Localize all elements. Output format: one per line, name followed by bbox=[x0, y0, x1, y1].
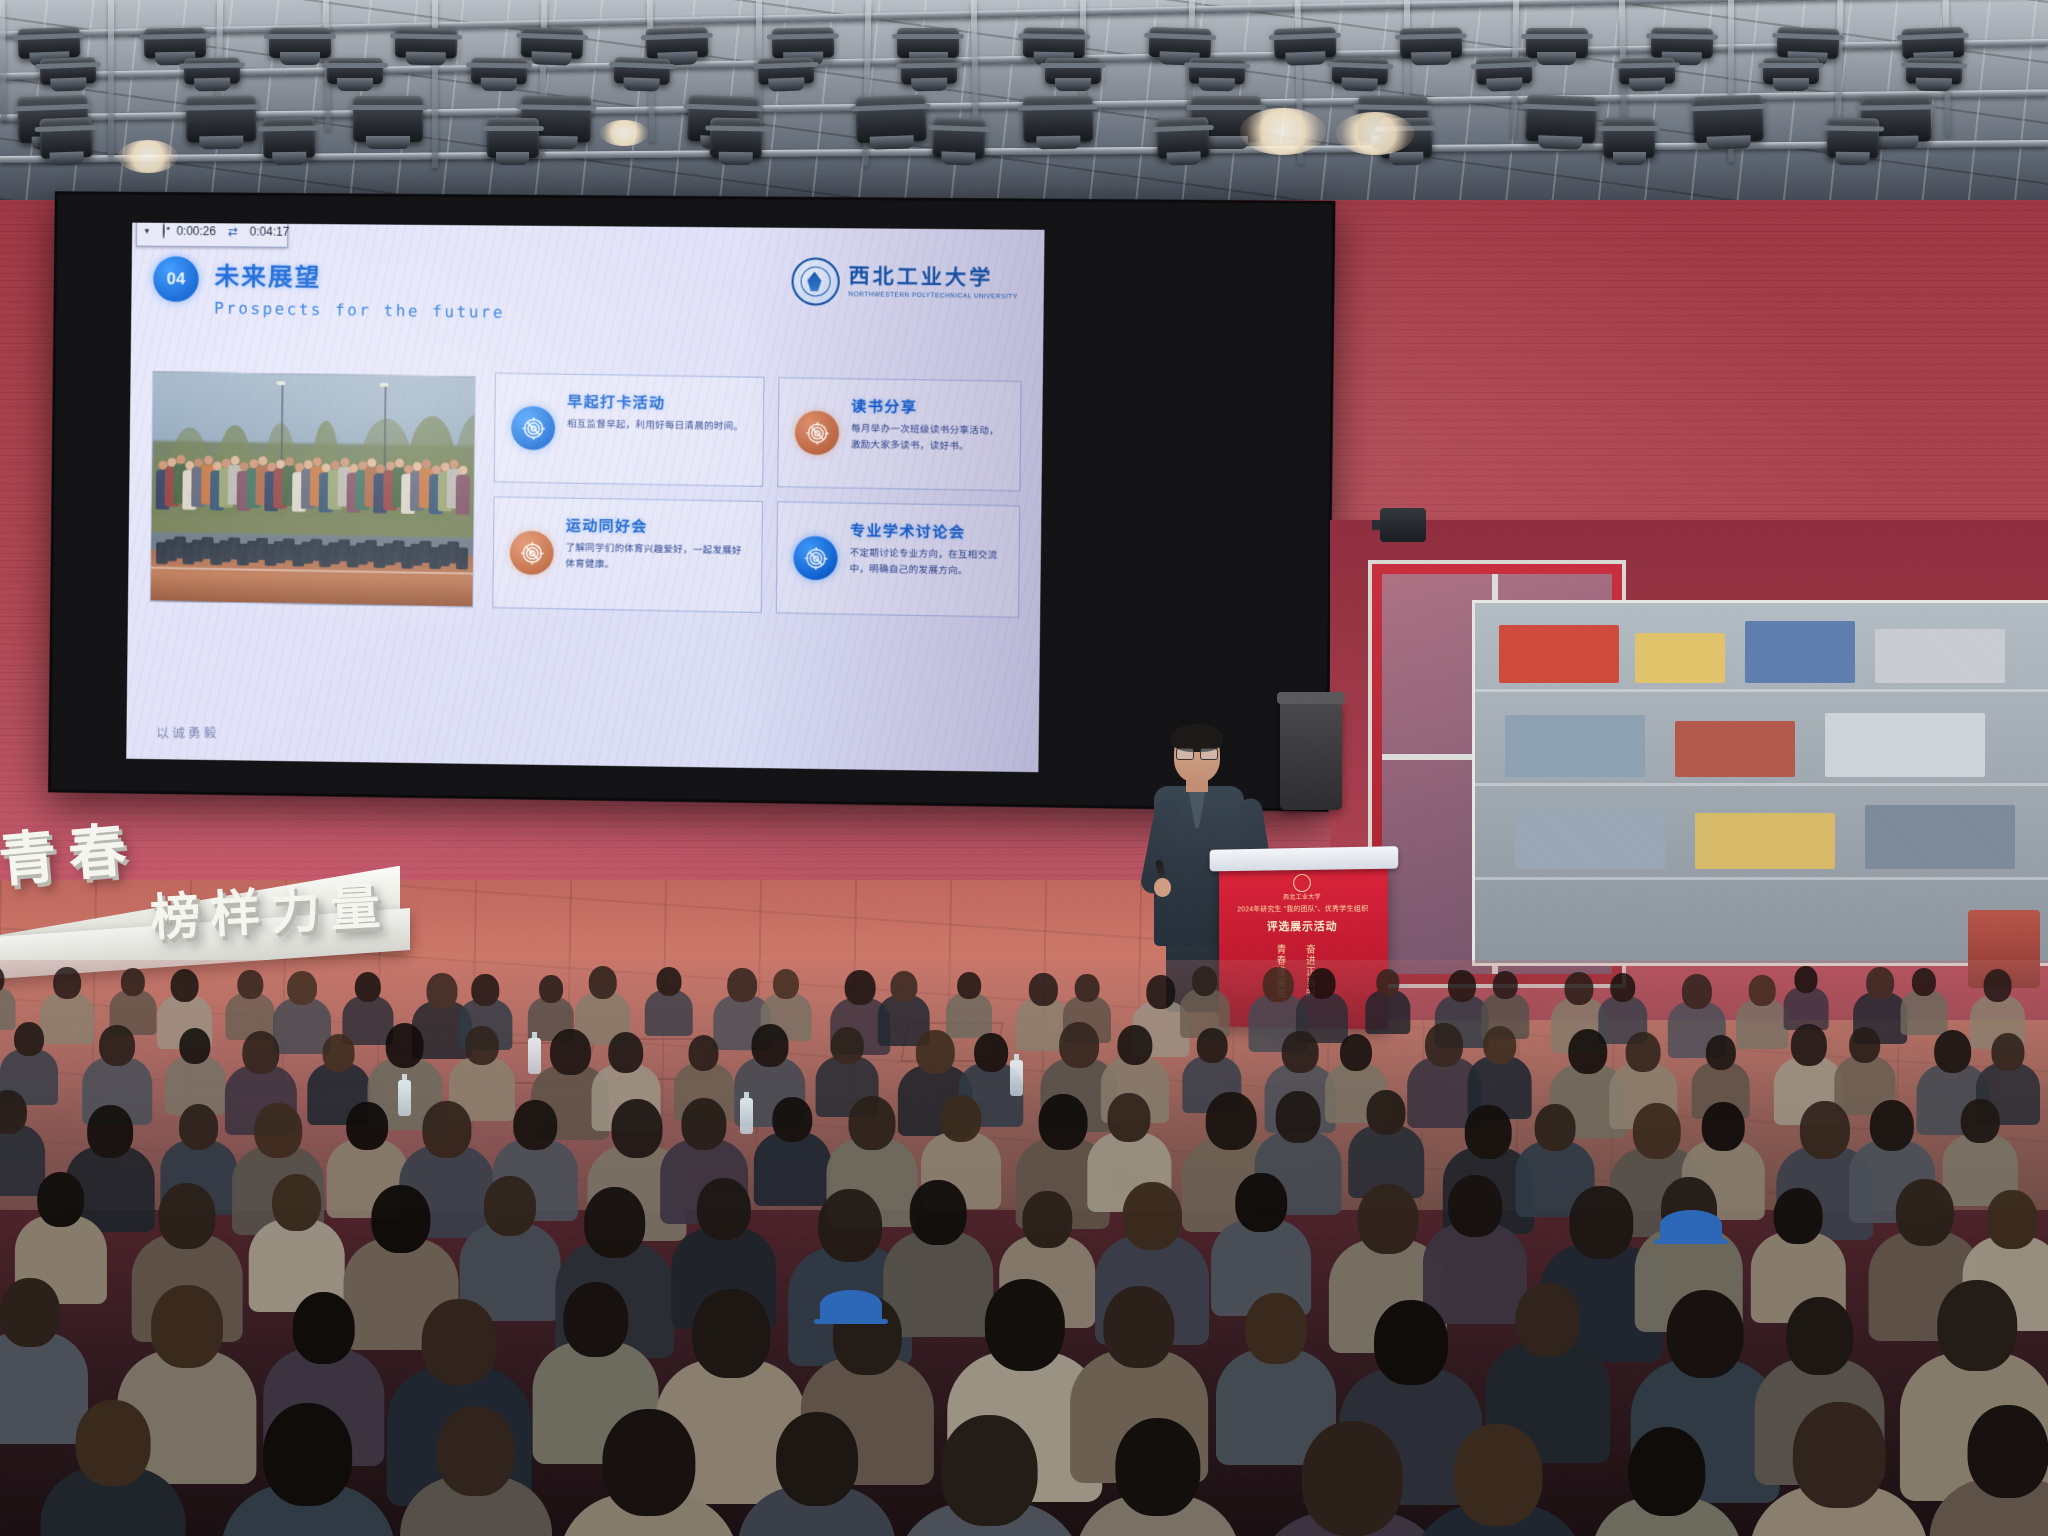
audience-person bbox=[218, 1403, 398, 1536]
audience-person-head bbox=[1340, 1034, 1372, 1071]
university-name-en: NORTHWESTERN POLYTECHNICAL UNIVERSITY bbox=[848, 291, 1017, 301]
audience-person-head bbox=[1029, 973, 1057, 1006]
audience-person-head bbox=[385, 1023, 424, 1068]
light-lens bbox=[366, 136, 411, 149]
audience-person-head bbox=[985, 1279, 1065, 1371]
bin-lid bbox=[1277, 692, 1345, 704]
audience-person-head bbox=[76, 1400, 151, 1486]
audience-person-head bbox=[1896, 1179, 1954, 1246]
light-lens bbox=[1167, 151, 1201, 165]
audience-person-head bbox=[263, 1403, 353, 1506]
light-lens bbox=[1390, 152, 1423, 166]
light-lens bbox=[273, 152, 306, 166]
audience-person bbox=[1072, 1418, 1243, 1536]
light-lens bbox=[198, 136, 243, 150]
light-lens bbox=[337, 78, 373, 91]
light-glare bbox=[118, 140, 178, 173]
light-lens bbox=[496, 152, 529, 165]
truss-vertical bbox=[432, 0, 438, 168]
photo-people-row bbox=[158, 459, 468, 570]
audience-person-head bbox=[1610, 973, 1636, 1002]
audience-person-head bbox=[1795, 966, 1818, 993]
stage-light bbox=[1776, 27, 1839, 59]
audience-person-head bbox=[422, 1299, 497, 1385]
audience-person-head bbox=[465, 1026, 499, 1065]
stage-light bbox=[710, 118, 763, 159]
audience-person-head bbox=[1793, 1402, 1885, 1508]
timer-total: 0:04:17 bbox=[244, 224, 296, 238]
light-yoke bbox=[322, 63, 388, 68]
photo-person bbox=[458, 464, 467, 570]
light-lens bbox=[50, 77, 86, 91]
stage-light bbox=[520, 27, 583, 59]
audience-person-head bbox=[1987, 1190, 2038, 1249]
light-yoke bbox=[1521, 34, 1593, 39]
stage-light bbox=[470, 58, 526, 85]
audience-person-head bbox=[1483, 1026, 1516, 1064]
audience-person-head bbox=[819, 1189, 883, 1262]
audience-person-head bbox=[484, 1176, 536, 1236]
audience-person bbox=[1900, 968, 1948, 1032]
audience-person-head bbox=[170, 969, 199, 1002]
audience-person-head bbox=[53, 967, 81, 999]
shelf-row bbox=[1475, 877, 2048, 880]
stage-light bbox=[1526, 28, 1588, 58]
light-lens bbox=[406, 52, 446, 66]
trash-bin bbox=[1280, 700, 1342, 810]
stage-light bbox=[933, 117, 986, 159]
light-yoke bbox=[705, 125, 767, 131]
audience-person-head bbox=[602, 1409, 695, 1516]
audience-person-head bbox=[1870, 1100, 1914, 1151]
shelf-item bbox=[1515, 809, 1665, 869]
card-desc: 不定期讨论专业方向，在互相交流中，明确自己的发展方向。 bbox=[849, 546, 1006, 580]
audience-person-head bbox=[422, 1101, 471, 1158]
podium-org-line: 西北工业大学 bbox=[1219, 891, 1388, 902]
water-bottle bbox=[398, 1080, 411, 1116]
banner-line-1: 青春 bbox=[0, 802, 141, 898]
light-lens bbox=[280, 52, 320, 65]
baseball-cap bbox=[820, 1290, 882, 1320]
slide-title-cn: 未来展望 bbox=[214, 257, 321, 294]
stage-light bbox=[185, 95, 256, 142]
audience-person-head bbox=[371, 1185, 430, 1253]
stage-light bbox=[327, 58, 383, 84]
audience-person bbox=[0, 1022, 59, 1101]
light-lens bbox=[1342, 77, 1378, 91]
audience-person-head bbox=[688, 1035, 719, 1071]
shelf-item bbox=[1635, 633, 1725, 683]
audience-person-head bbox=[1465, 1105, 1512, 1159]
audience-person-head bbox=[1912, 968, 1936, 996]
audience-person-head bbox=[1568, 1029, 1607, 1074]
audience-person-head bbox=[589, 966, 618, 999]
audience-person bbox=[1927, 1405, 2048, 1536]
audience-person-head bbox=[255, 1103, 302, 1158]
audience-person-head bbox=[1023, 1191, 1072, 1248]
stage-light bbox=[1332, 57, 1389, 85]
light-lens bbox=[1629, 78, 1665, 92]
audience-person-head bbox=[776, 1412, 858, 1506]
light-yoke bbox=[1186, 105, 1266, 110]
presentation-slide: 04 未来展望 Prospects for the future 西北工业大学 … bbox=[126, 223, 1044, 773]
audience-person-body bbox=[1900, 990, 1947, 1035]
water-bottle bbox=[528, 1038, 541, 1074]
shelf-item bbox=[1499, 625, 1619, 683]
card-1[interactable]: 早起打卡活动 相互监督早起，利用好每日清晨的时间。 bbox=[494, 373, 765, 487]
light-lens bbox=[1537, 52, 1577, 65]
audience-person bbox=[164, 1028, 227, 1110]
audience-person-head bbox=[681, 1098, 726, 1150]
stage-light bbox=[40, 57, 97, 85]
audience-person-head bbox=[1967, 1405, 2048, 1498]
audience-person-head bbox=[916, 1030, 954, 1074]
audience-person-head bbox=[1192, 966, 1218, 996]
ppt-recording-timer[interactable]: 录制 ▼ 0:00:26 ⇄ 0:04:17 bbox=[136, 223, 289, 248]
stage-light bbox=[395, 27, 458, 58]
shelf-item bbox=[1675, 721, 1795, 777]
cap-brim bbox=[814, 1319, 888, 1324]
audience-person-body bbox=[1365, 990, 1410, 1034]
stage-light bbox=[646, 27, 709, 59]
audience-person-head bbox=[1800, 1101, 1850, 1159]
water-bottle bbox=[740, 1098, 753, 1134]
podium-top-surface bbox=[1210, 846, 1399, 871]
chevron-down-icon[interactable]: ▼ bbox=[137, 226, 157, 235]
light-lens bbox=[480, 78, 516, 92]
podium-event-line-2: 评选展示活动 bbox=[1219, 918, 1388, 934]
audience-person-head bbox=[1282, 1031, 1319, 1073]
light-lens bbox=[942, 151, 976, 165]
audience-person-head bbox=[1774, 1188, 1823, 1244]
audience-person-head bbox=[692, 1289, 769, 1378]
light-yoke bbox=[482, 126, 544, 131]
audience-person-head bbox=[1570, 1186, 1633, 1259]
led-screen: 04 未来展望 Prospects for the future 西北工业大学 … bbox=[48, 191, 1335, 812]
slide-title-en: Prospects for the future bbox=[214, 299, 505, 322]
shelf-row bbox=[1475, 689, 2048, 692]
audience-person-head bbox=[1961, 1099, 2000, 1143]
card-3[interactable]: 运动同好会 了解同学们的体育兴趣爱好，一起发展好体育健康。 bbox=[492, 496, 763, 613]
stage-light bbox=[1902, 27, 1965, 59]
target-icon bbox=[795, 410, 840, 455]
audience-person bbox=[735, 1412, 899, 1536]
audience-person-head bbox=[1376, 969, 1399, 996]
display-shelving bbox=[1472, 600, 2048, 966]
light-lens bbox=[1198, 78, 1234, 92]
audience-person-head bbox=[1493, 971, 1517, 999]
light-yoke bbox=[1758, 63, 1824, 68]
audience-person-head bbox=[773, 1097, 812, 1142]
audience-person-head bbox=[584, 1187, 646, 1258]
audience-person bbox=[1210, 1173, 1313, 1308]
card-desc: 了解同学们的体育兴趣爱好，一起发展好体育健康。 bbox=[565, 540, 749, 575]
record-icon[interactable] bbox=[163, 223, 165, 239]
audience-person-head bbox=[1374, 1300, 1448, 1385]
light-lens bbox=[1486, 77, 1522, 91]
audience-person bbox=[893, 1415, 1087, 1536]
audience-person bbox=[398, 1406, 555, 1536]
stage-light bbox=[183, 58, 239, 85]
audience-person-head bbox=[37, 1172, 85, 1227]
shelf-item bbox=[1505, 715, 1645, 777]
podium-event-line-1: 2024年研究生 “我的团队”、优秀学生组织 bbox=[1219, 903, 1388, 914]
audience-person-head bbox=[845, 970, 876, 1005]
shelf-item bbox=[1865, 805, 2015, 869]
audience-person-head bbox=[87, 1105, 133, 1158]
light-lens bbox=[50, 151, 84, 165]
audience-person-head bbox=[849, 1096, 896, 1150]
audience-person-head bbox=[1275, 1091, 1320, 1143]
light-yoke bbox=[1598, 126, 1660, 131]
stage-light bbox=[1045, 58, 1101, 84]
truss-vertical bbox=[108, 0, 114, 157]
audience-person bbox=[1783, 966, 1829, 1027]
audience-person-head bbox=[1992, 1033, 2025, 1071]
stage-light bbox=[1023, 95, 1094, 142]
light-yoke bbox=[264, 34, 336, 39]
light-yoke bbox=[348, 105, 428, 110]
timer-elapsed: 0:00:26 bbox=[170, 224, 222, 238]
university-seal-icon bbox=[791, 257, 840, 306]
audience-person-head bbox=[1117, 1025, 1152, 1065]
light-lens bbox=[1836, 152, 1869, 166]
audience-person-head bbox=[1667, 1290, 1744, 1378]
light-lens bbox=[533, 136, 578, 150]
audience-person bbox=[1410, 1424, 1588, 1536]
audience-person-head bbox=[890, 971, 917, 1002]
audience-person-head bbox=[514, 1100, 557, 1150]
stage-light bbox=[1188, 58, 1244, 85]
light-lens bbox=[194, 78, 230, 92]
audience-person bbox=[1179, 966, 1231, 1034]
audience-person-head bbox=[1866, 967, 1894, 999]
stage-light bbox=[143, 27, 206, 58]
stage-light bbox=[1475, 57, 1532, 85]
audience-person-head bbox=[941, 1415, 1038, 1526]
podium-seal-icon bbox=[1293, 874, 1311, 892]
audience-person-head bbox=[179, 1104, 219, 1150]
audience-person-head bbox=[179, 1028, 210, 1064]
audience-area bbox=[0, 960, 2048, 1536]
class-group-photo bbox=[150, 371, 476, 608]
audience-person bbox=[1466, 1026, 1533, 1114]
audience-person-head bbox=[238, 970, 263, 999]
audience-person-head bbox=[1628, 1427, 1705, 1516]
audience-person-head bbox=[1075, 974, 1100, 1002]
audience-person-head bbox=[151, 1285, 223, 1368]
stage-light bbox=[1763, 58, 1819, 84]
stage-light bbox=[897, 28, 959, 58]
glasses-icon bbox=[1176, 748, 1218, 758]
audience-person bbox=[225, 970, 276, 1036]
card-desc: 每月举办一次班级读书分享活动，激励大家多读书，读好书。 bbox=[851, 421, 1008, 455]
cap-brim bbox=[1654, 1239, 1728, 1244]
stage-light bbox=[1906, 58, 1962, 85]
audience-person bbox=[1364, 969, 1411, 1030]
audience-person-head bbox=[773, 969, 799, 999]
light-lens bbox=[1773, 78, 1809, 91]
audience-person-head bbox=[656, 967, 681, 996]
audience-person-head bbox=[1425, 1023, 1463, 1067]
audience-person-head bbox=[1104, 1286, 1175, 1368]
light-lens bbox=[1286, 51, 1326, 65]
audience-person-head bbox=[1983, 969, 2012, 1002]
audience-person-head bbox=[426, 973, 457, 1009]
stage-banner-letters: 青春 榜样力量 bbox=[0, 790, 450, 965]
stage-light bbox=[771, 27, 834, 58]
audience-person-head bbox=[0, 1090, 27, 1134]
audience-person-head bbox=[1702, 1102, 1745, 1151]
audience-person-head bbox=[1786, 1297, 1854, 1375]
card-title: 运动同好会 bbox=[566, 515, 752, 539]
audience-person-head bbox=[697, 1178, 751, 1240]
audience-person-head bbox=[346, 1102, 388, 1150]
audience-person-head bbox=[355, 972, 381, 1002]
light-lens bbox=[912, 78, 948, 92]
audience-person-head bbox=[272, 1174, 322, 1231]
stage-light bbox=[1826, 118, 1879, 159]
light-lens bbox=[768, 77, 804, 91]
stage-light bbox=[487, 118, 539, 158]
audience-person-head bbox=[1565, 972, 1594, 1005]
audience-person-body bbox=[644, 990, 692, 1037]
light-lens bbox=[1873, 136, 1918, 150]
audience-person-head bbox=[158, 1183, 215, 1249]
stage-light bbox=[269, 28, 331, 58]
side-stage-light bbox=[1380, 508, 1426, 542]
audience-person-head bbox=[99, 1025, 135, 1066]
loop-icon[interactable]: ⇄ bbox=[222, 224, 244, 238]
shelf-item bbox=[1875, 629, 2005, 683]
audience-person-head bbox=[1706, 1035, 1736, 1070]
audience-person-head bbox=[1115, 1418, 1200, 1516]
shelf-item bbox=[1695, 813, 1835, 869]
stage-light bbox=[39, 117, 92, 159]
audience-person-head bbox=[539, 975, 563, 1003]
light-yoke bbox=[892, 34, 964, 39]
audience-person-head bbox=[974, 1033, 1008, 1072]
stage-light bbox=[17, 27, 80, 59]
audience-person-head bbox=[1038, 1094, 1087, 1150]
stage-light bbox=[1023, 27, 1086, 58]
audience-person-head bbox=[0, 1278, 60, 1347]
light-lens bbox=[1411, 52, 1451, 66]
audience-person bbox=[0, 966, 16, 1027]
audience-person bbox=[1295, 968, 1349, 1039]
audience-person-head bbox=[1448, 1175, 1502, 1237]
shelf-item bbox=[1745, 621, 1855, 683]
audience-person bbox=[555, 1409, 742, 1536]
target-icon bbox=[793, 536, 838, 581]
audience-person-head bbox=[1367, 1090, 1406, 1135]
audience-person-head bbox=[1197, 1028, 1228, 1063]
audience-person-head bbox=[1448, 970, 1476, 1002]
audience-person-head bbox=[1515, 1283, 1580, 1357]
card-2[interactable]: 读书分享 每月举办一次班级读书分享活动，激励大家多读书，读好书。 bbox=[777, 377, 1021, 491]
water-bottle bbox=[1010, 1060, 1023, 1096]
audience-person bbox=[1589, 1427, 1744, 1536]
audience-person-head bbox=[1146, 975, 1175, 1009]
audience-person-head bbox=[940, 1095, 981, 1142]
stage-light bbox=[1156, 117, 1209, 159]
audience-person-head bbox=[1309, 968, 1336, 999]
light-lens bbox=[1055, 78, 1091, 91]
audience-person-head bbox=[1633, 1103, 1681, 1159]
audience-person-head bbox=[1937, 1280, 2017, 1371]
audience-person bbox=[1347, 1090, 1425, 1192]
audience-person-head bbox=[550, 1029, 590, 1075]
audience-person-head bbox=[1534, 1104, 1575, 1151]
stage-light bbox=[353, 96, 423, 142]
card-desc: 相互监督早起，利用好每日清晨的时间。 bbox=[567, 417, 751, 436]
shelf-item bbox=[1825, 713, 1985, 777]
light-lens bbox=[1036, 136, 1081, 150]
audience-person-head bbox=[322, 1034, 355, 1072]
stage-light bbox=[263, 118, 316, 159]
audience-person-head bbox=[831, 1027, 863, 1064]
audience-person-head bbox=[1206, 1092, 1257, 1150]
audience-person bbox=[946, 972, 993, 1034]
audience-person-head bbox=[287, 971, 317, 1005]
audience-person-head bbox=[1626, 1032, 1661, 1072]
light-lens bbox=[1916, 78, 1952, 92]
stage-light bbox=[1619, 58, 1675, 85]
audience-person-head bbox=[1059, 1022, 1099, 1068]
audience-person bbox=[644, 967, 694, 1033]
light-lens bbox=[1537, 135, 1582, 150]
audience-person-head bbox=[121, 968, 145, 996]
audience-person-head bbox=[612, 1099, 663, 1158]
audience-person-head bbox=[1749, 975, 1776, 1006]
stage-light bbox=[901, 58, 957, 85]
stage-light bbox=[614, 57, 671, 85]
stage-light bbox=[1148, 27, 1211, 59]
audience-person-head bbox=[1357, 1184, 1418, 1254]
audience-person bbox=[1747, 1402, 1932, 1536]
audience-person-head bbox=[563, 1282, 628, 1357]
audience-person-head bbox=[751, 1024, 788, 1067]
stage-light bbox=[1525, 95, 1597, 143]
audience-person-head bbox=[910, 1180, 967, 1245]
stage-light bbox=[1692, 95, 1764, 143]
stage-light bbox=[757, 57, 814, 85]
audience-person bbox=[1833, 1027, 1896, 1110]
university-logo: 西北工业大学 NORTHWESTERN POLYTECHNICAL UNIVER… bbox=[791, 257, 1018, 308]
light-lens bbox=[869, 135, 914, 150]
audience-person-head bbox=[1236, 1173, 1288, 1232]
audience-person-head bbox=[437, 1406, 515, 1496]
audience-person-head bbox=[1454, 1424, 1543, 1526]
banner-line-2: 榜样力量 bbox=[148, 866, 391, 950]
audience-person-head bbox=[1263, 967, 1293, 1002]
light-lens bbox=[1613, 152, 1646, 165]
card-title: 读书分享 bbox=[851, 395, 1010, 419]
audience-person-head bbox=[728, 968, 758, 1002]
audience-person-head bbox=[958, 972, 982, 999]
presenter-hand bbox=[1154, 878, 1171, 897]
card-4[interactable]: 专业学术讨论会 不定期讨论专业方向，在互相交流中，明确自己的发展方向。 bbox=[776, 501, 1020, 618]
section-number-badge: 04 bbox=[153, 256, 199, 302]
audience-person-head bbox=[1245, 1293, 1307, 1364]
audience-person-head bbox=[1849, 1027, 1881, 1063]
stage-light bbox=[1274, 27, 1337, 59]
photo-floodlight bbox=[380, 383, 389, 387]
light-yoke bbox=[1822, 125, 1884, 131]
audience-person-head bbox=[14, 1022, 44, 1056]
stage-light bbox=[1651, 27, 1714, 58]
audience-person-head bbox=[472, 974, 499, 1006]
